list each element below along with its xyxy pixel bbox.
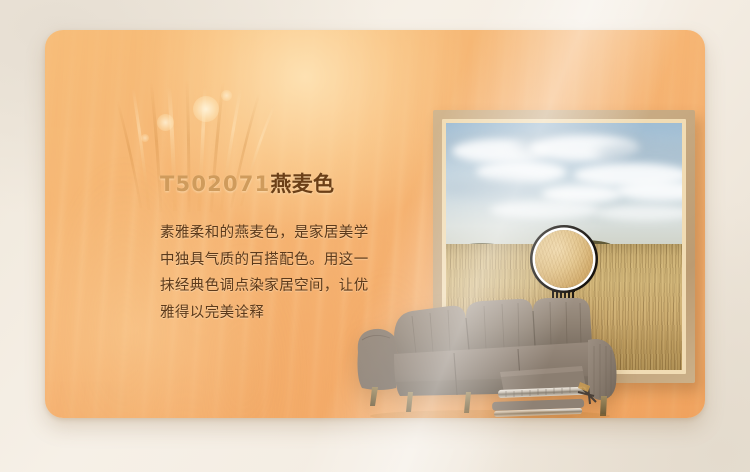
color-name: 燕麦色 (270, 172, 334, 196)
bokeh-dot-medium (157, 114, 174, 131)
bokeh-dot-large (193, 96, 219, 122)
bokeh-dot-small (221, 90, 232, 101)
bokeh-dot-tiny (141, 134, 149, 142)
feature-card: T502071燕麦色 素雅柔和的燕麦色，是家居美学 中独具气质的百搭配色。用这一… (45, 30, 705, 418)
banner-canvas: T502071燕麦色 素雅柔和的燕麦色，是家居美学 中独具气质的百搭配色。用这一… (0, 0, 750, 472)
description-line: 素雅柔和的燕麦色，是家居美学 (160, 220, 410, 247)
description-line: 中独具气质的百搭配色。用这一 (160, 247, 410, 274)
color-code: T502071 (160, 172, 270, 196)
color-title: T502071燕麦色 (160, 170, 410, 198)
oat-color-disc (535, 230, 593, 288)
sofa-product-image (350, 292, 620, 418)
